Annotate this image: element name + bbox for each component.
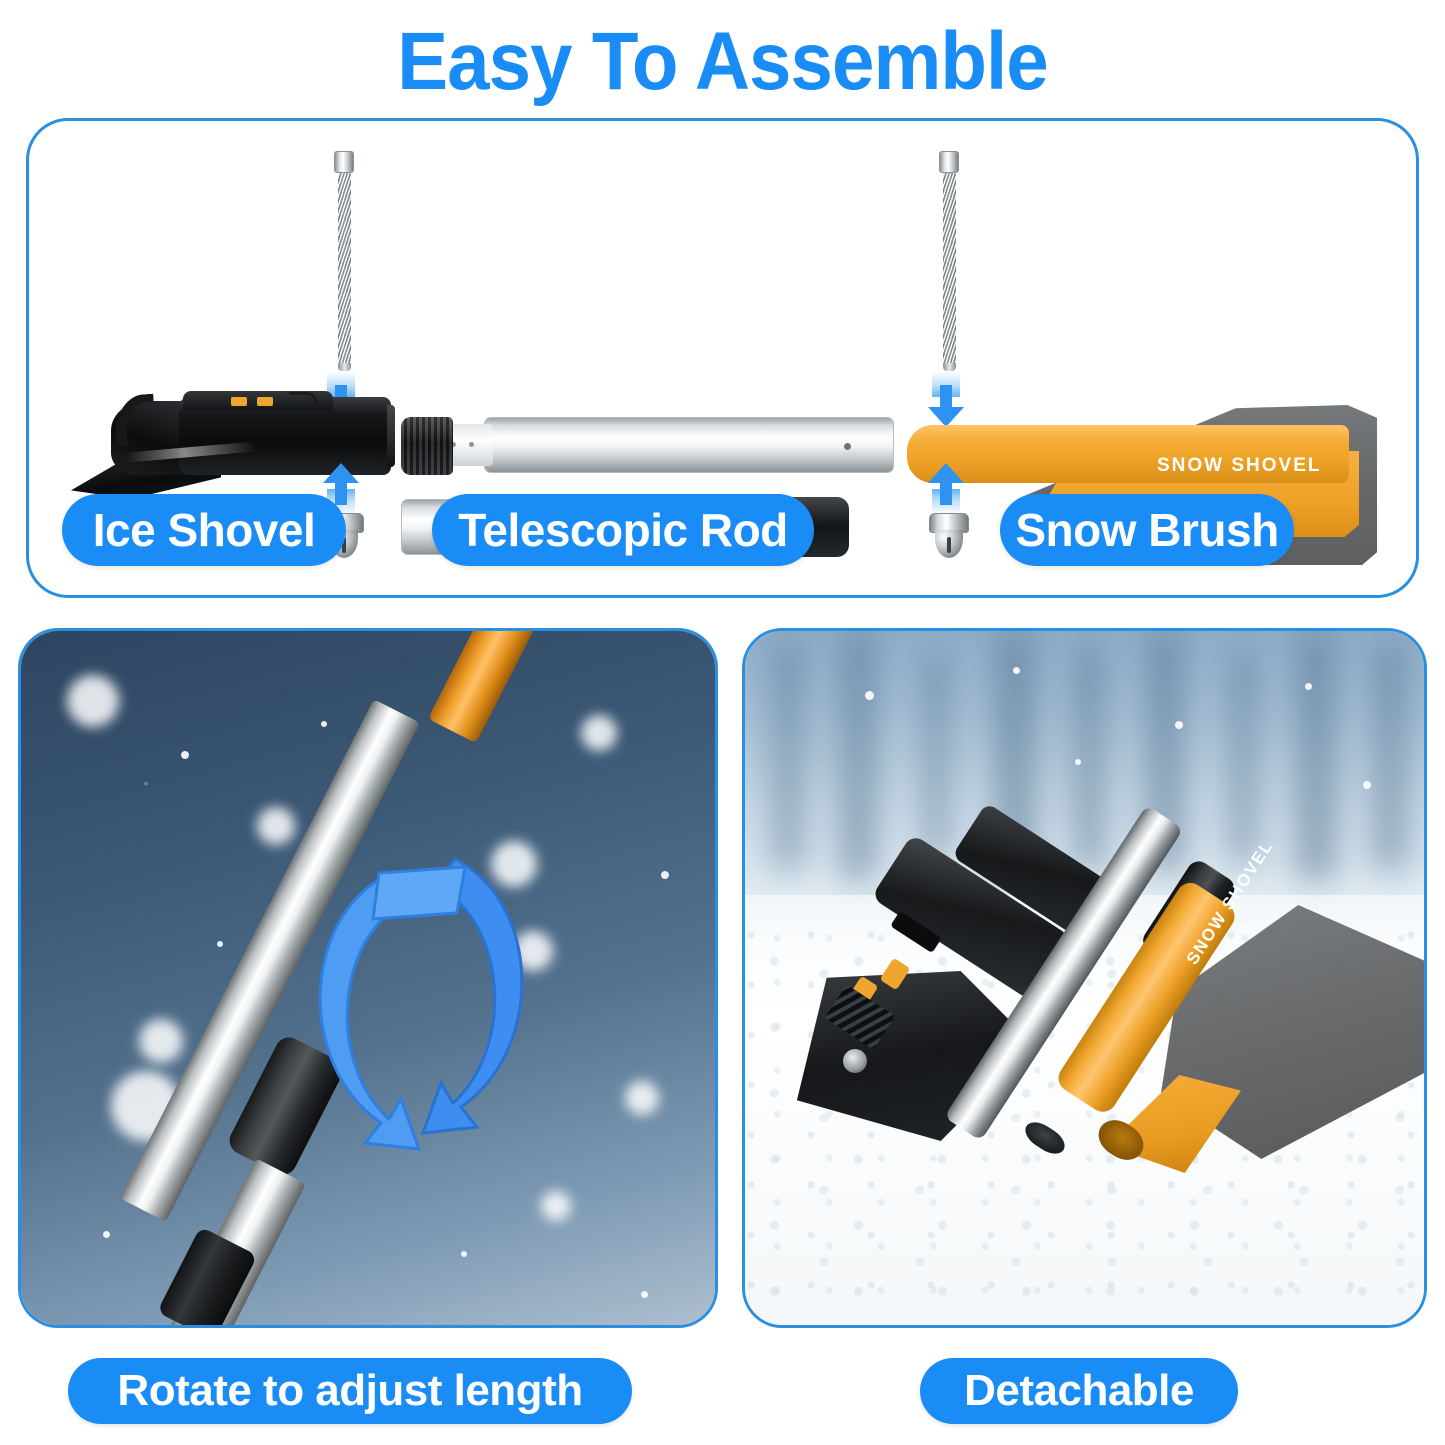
- label-rotate-to-adjust: Rotate to adjust length: [68, 1358, 632, 1424]
- infographic-stage: Easy To Assemble: [0, 0, 1445, 1445]
- scraper-pivot: [843, 1049, 867, 1073]
- arrow-up-icon: [926, 463, 966, 505]
- panel-detachable: SNOW SHOVEL: [742, 628, 1427, 1328]
- twist-lock-collar[interactable]: [401, 417, 453, 475]
- release-button-1[interactable]: [231, 397, 247, 406]
- release-button-2[interactable]: [257, 397, 273, 406]
- label-ice-shovel: Ice Shovel: [62, 494, 346, 566]
- brand-text: SNOW SHOVEL: [1157, 455, 1322, 477]
- hex-bolt-icon: [334, 151, 354, 371]
- rod-pin-hole: [844, 443, 851, 450]
- rotation-arrow-icon: [269, 827, 569, 1157]
- hex-bolt-icon: [939, 151, 959, 371]
- label-telescopic-rod: Telescopic Rod: [432, 494, 814, 566]
- rod-open-end: [1021, 1117, 1070, 1159]
- label-detachable: Detachable: [920, 1358, 1238, 1424]
- detached-snow-shovel: SNOW SHOVEL: [1095, 879, 1425, 1209]
- rod-upper-tube: [484, 417, 894, 473]
- page-title: Easy To Assemble: [51, 14, 1395, 110]
- scraper-hook: [113, 394, 156, 447]
- scraper-clip: [289, 392, 317, 408]
- panel-rotate-to-adjust: [18, 628, 718, 1328]
- label-snow-brush: Snow Brush: [1000, 494, 1294, 566]
- thumb-nut-icon: [929, 513, 969, 563]
